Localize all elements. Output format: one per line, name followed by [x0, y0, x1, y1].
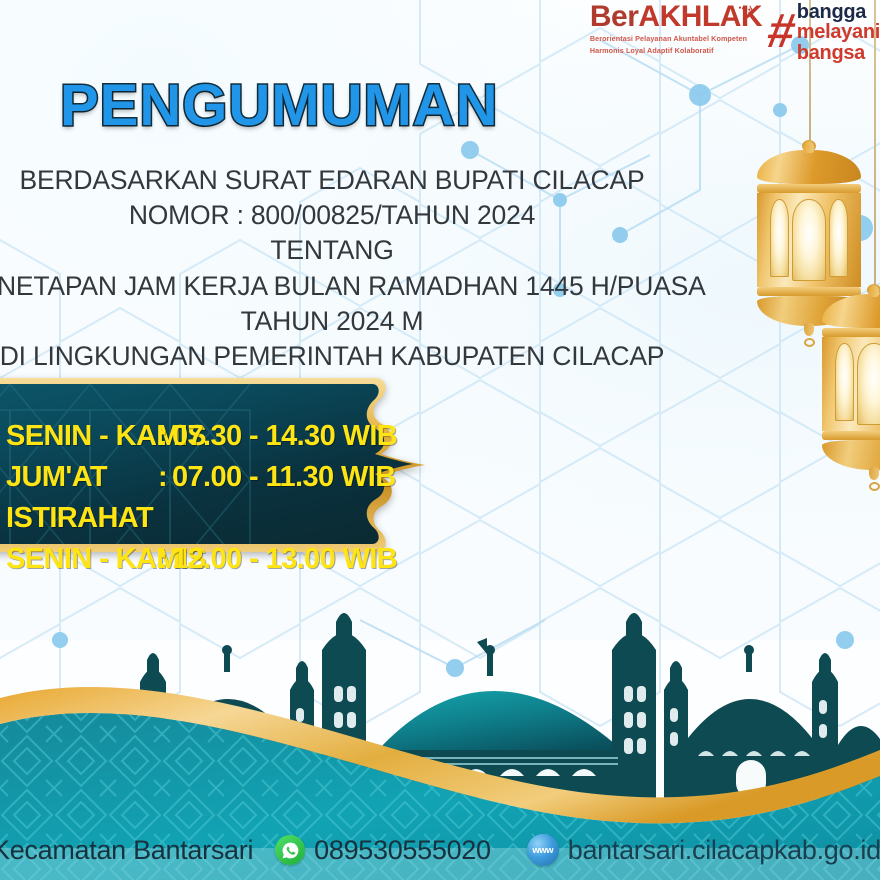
schedule-row-1-day: SENIN - KAMIS: [6, 422, 158, 451]
schedule-row-2-day: JUM'AT: [6, 463, 158, 492]
lantern-1-collar-top: [757, 184, 861, 193]
announcement-line-5: TAHUN 2024 M: [0, 304, 702, 339]
whatsapp-number[interactable]: 089530555020: [314, 835, 491, 866]
schedule-row-4-day: SENIN - KAMIS: [6, 545, 158, 574]
schedule-panel: SENIN - KAMIS : 07.30 - 14.30 WIB JUM'AT…: [0, 370, 480, 602]
footer-whatsapp[interactable]: 089530555020: [275, 835, 491, 866]
lantern-2-collar-bottom: [822, 431, 880, 440]
schedule-row-4: SENIN - KAMIS : 12.00 - 13.00 WIB: [6, 545, 426, 586]
announcement-body: BERDASARKAN SURAT EDARAN BUPATI CILACAP …: [0, 163, 702, 374]
bangga-line2: melayani: [797, 22, 880, 42]
bangga-melayani-bangsa-logo: # bangga melayani bangsa: [766, 2, 880, 63]
lantern-2-dome: [822, 294, 880, 328]
poster-canvas: BerAKHLAK ⤑ Berorientasi Pelayanan Akunt…: [0, 0, 880, 880]
lantern-1-dome: [757, 150, 861, 184]
berakhlak-logo: BerAKHLAK ⤑ Berorientasi Pelayanan Akunt…: [590, 2, 766, 57]
announcement-line-2: NOMOR : 800/00825/TAHUN 2024: [0, 198, 702, 233]
office-name: Kecamatan Bantarsari: [0, 835, 253, 866]
footer-contact-bar: Kecamatan Bantarsari 089530555020 www ba…: [0, 820, 880, 880]
schedule-row-2-separator: :: [158, 463, 172, 492]
berakhlak-tagline-line2: Harmonis Loyal Adaptif Kolaboratif: [590, 46, 762, 56]
lantern-2-body: [822, 337, 880, 431]
lantern-2-bottom-ring: [869, 482, 880, 491]
announcement-line-4: PENETAPAN JAM KERJA BULAN RAMADHAN 1445 …: [0, 269, 702, 304]
footer-website[interactable]: www bantarsari.cilacapkab.go.id: [527, 834, 880, 866]
lantern-1-pane-center: [792, 199, 826, 281]
www-label: www: [532, 845, 553, 856]
lantern-2-glass-panes: [822, 340, 880, 428]
berakhlak-prefix: Ber: [590, 0, 639, 33]
lantern-1-pane-right: [829, 199, 848, 277]
berakhlak-tagline-line1: Berorientasi Pelayanan Akuntabel Kompete…: [590, 34, 762, 44]
schedule-row-4-time: 12.00 - 13.00 WIB: [172, 545, 397, 574]
announcement-line-3: TENTANG: [0, 233, 702, 268]
schedule-row-3-day: ISTIRAHAT: [6, 504, 153, 533]
lantern-2: [822, 284, 880, 491]
lantern-2-pane-center: [857, 343, 880, 425]
bangga-line1: bangga: [797, 2, 880, 22]
schedule-row-3: ISTIRAHAT: [6, 504, 426, 545]
lantern-2-collar-top: [822, 328, 880, 337]
schedule-row-4-separator: :: [158, 545, 172, 574]
schedule-row-2: JUM'AT : 07.00 - 11.30 WIB: [6, 463, 426, 504]
globe-www-icon[interactable]: www: [527, 834, 559, 866]
hash-icon: #: [765, 13, 798, 51]
header-logos: BerAKHLAK ⤑ Berorientasi Pelayanan Akunt…: [590, 2, 880, 63]
website-url[interactable]: bantarsari.cilacapkab.go.id: [568, 835, 880, 866]
announcement-line-1: BERDASARKAN SURAT EDARAN BUPATI CILACAP: [0, 163, 702, 198]
lantern-1-bottom-ring: [804, 338, 815, 347]
schedule-row-1-time: 07.30 - 14.30 WIB: [172, 422, 397, 451]
whatsapp-icon[interactable]: [275, 835, 305, 865]
lantern-2-base: [822, 440, 880, 470]
lantern-1-body: [757, 193, 861, 287]
lantern-1-pane-left: [770, 199, 789, 277]
page-title: PENGUMUMAN: [60, 72, 499, 139]
footer-office: Kecamatan Bantarsari: [0, 835, 253, 866]
schedule-row-1: SENIN - KAMIS : 07.30 - 14.30 WIB: [6, 422, 426, 463]
lantern-2-pane-left: [835, 343, 854, 421]
bangga-line3: bangsa: [797, 43, 880, 63]
bangga-wordmark: bangga melayani bangsa: [797, 2, 880, 63]
schedule-list: SENIN - KAMIS : 07.30 - 14.30 WIB JUM'AT…: [6, 422, 426, 586]
schedule-row-2-time: 07.00 - 11.30 WIB: [172, 463, 396, 492]
schedule-row-1-separator: :: [158, 422, 172, 451]
lantern-1-glass-panes: [757, 196, 861, 284]
